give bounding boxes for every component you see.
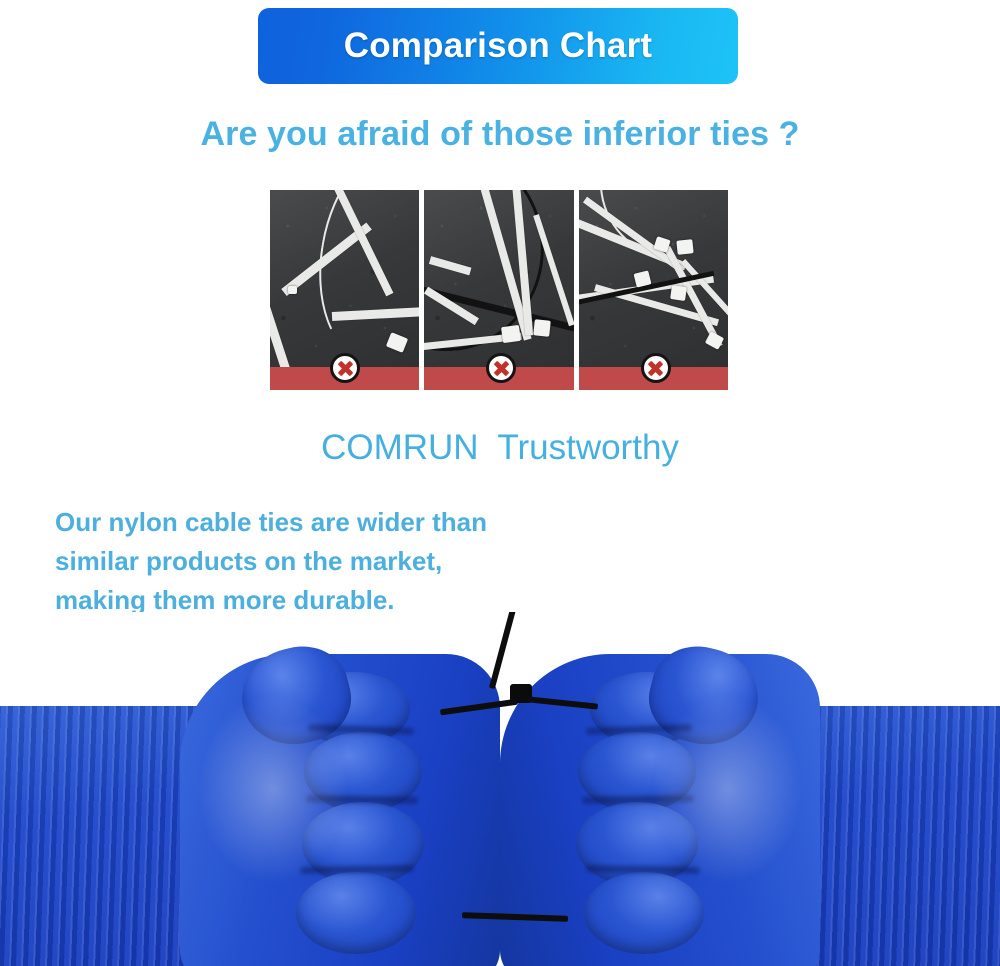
cable-tie-head [670,285,687,301]
title-banner: Comparison Chart [258,8,738,84]
comparison-panel-2 [424,190,573,390]
subheading: Are you afraid of those inferior ties ? [0,115,1000,154]
cable-tie-head [534,319,552,337]
cable-tie-head [501,325,521,343]
cable-tie-head [288,286,297,294]
finger-crease [306,795,418,804]
knuckle [296,872,416,954]
body-copy-line-2: similar products on the market, [55,542,575,581]
red-x-circle-icon [330,353,360,383]
gloved-fist-left [180,654,500,966]
comparison-panel-1 [270,190,419,390]
body-copy-line-1: Our nylon cable ties are wider than [55,503,575,542]
comparison-panel-3 [579,190,728,390]
page-title: Comparison Chart [344,26,653,66]
finger-crease [582,795,694,804]
cable-tie-head [676,239,693,255]
body-copy: Our nylon cable ties are wider than simi… [55,503,575,620]
comparison-panel-strip [270,190,728,390]
gloved-hands-photo [0,612,1000,966]
red-x-circle-icon [641,353,671,383]
brand-tagline: COMRUN Trustworthy [0,428,1000,468]
knuckle [584,872,704,954]
